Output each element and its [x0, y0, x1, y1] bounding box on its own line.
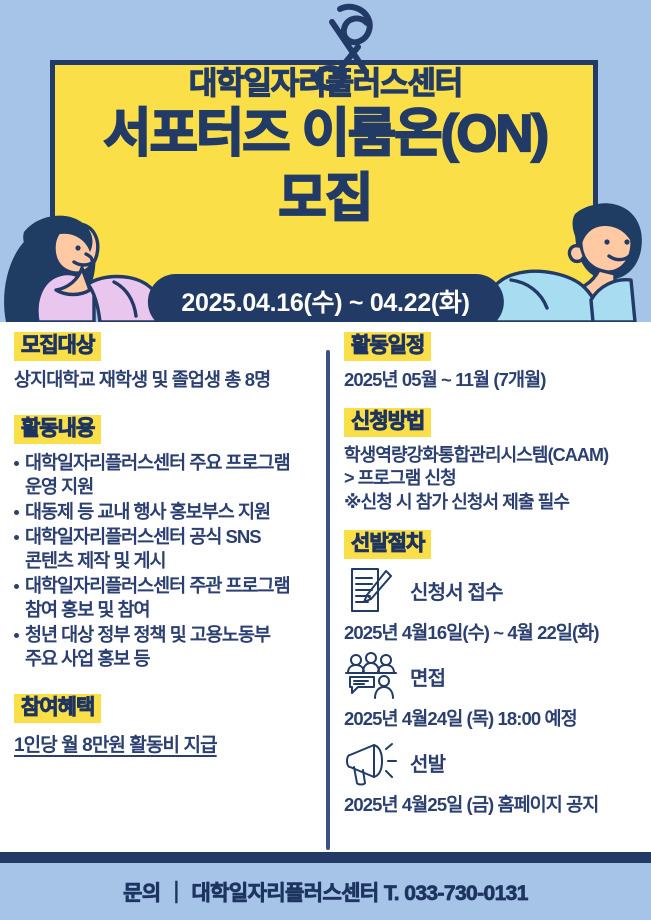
section-heading-how-to-apply: 신청방법: [344, 408, 431, 437]
benefit-text: 1인당 월 8만원 활동비 지급: [14, 730, 318, 757]
section-heading-selection: 선발절차: [344, 530, 431, 559]
step-date: 2025년 4월25일 (금) 홈페이지 공지: [344, 791, 644, 817]
document-pencil-icon: [344, 565, 400, 615]
schedule-text: 2025년 05월 ~ 11월 (7개월): [344, 368, 644, 392]
activity-line-1: 대동제 등 교내 행사 홍보부스 지원: [25, 501, 270, 522]
list-item: 청년 대상 정부 정책 및 고용노동부 주요 사업 홍보 등: [14, 623, 318, 671]
activity-line-1: 대학일자리플러스센터 주요 프로그램: [25, 452, 290, 473]
activity-line-2: 참여 홍보 및 참여: [25, 598, 318, 622]
selection-step-result: 선발: [344, 737, 644, 787]
target-text: 상지대학교 재학생 및 졸업생 총 8명: [14, 368, 318, 392]
column-divider: [326, 350, 330, 850]
title-line-1: 대학일자리플러스센터: [0, 68, 651, 99]
date-range-badge: 2025.04.16(수) ~ 04.22(화): [147, 274, 503, 322]
left-column: 모집대상 상지대학교 재학생 및 졸업생 총 8명 활동내용 대학일자리플러스센…: [14, 332, 318, 757]
step-label: 신청서 접수: [410, 576, 503, 605]
section-heading-benefit: 참여혜택: [14, 694, 101, 723]
hero-section: 대학일자리플러스센터 서포터즈 이룸온(ON) 모집 2025.04.16(수)…: [0, 0, 651, 322]
spacer: [344, 361, 644, 368]
footer-accent-strip: [0, 852, 651, 863]
activity-line-2: 주요 사업 홍보 등: [25, 647, 318, 671]
activity-line-1: 대학일자리플러스센터 주관 프로그램: [25, 575, 290, 596]
activity-line-1: 대학일자리플러스센터 공식 SNS: [25, 526, 261, 547]
activity-line-1: 청년 대상 정부 정책 및 고용노동부: [25, 624, 270, 645]
apply-line-2: > 프로그램 신청: [344, 467, 644, 491]
list-item: 대동제 등 교내 행사 홍보부스 지원: [14, 500, 318, 524]
activity-line-2: 콘텐츠 제작 및 게시: [25, 549, 318, 573]
spacer: [14, 444, 318, 451]
title-line-3: 모집: [0, 173, 651, 225]
list-item: 대학일자리플러스센터 주요 프로그램 운영 지원: [14, 451, 318, 499]
spacer: [14, 361, 318, 368]
selection-step-interview: 면접: [344, 651, 644, 701]
interview-people-icon: [344, 651, 400, 701]
spacer: [344, 393, 644, 408]
title-line-2: 서포터즈 이룸온(ON): [0, 108, 651, 160]
footer-bar: 문의 ｜ 대학일자리플러스센터 T. 033-730-0131: [0, 863, 651, 920]
spacer: [344, 437, 644, 444]
step-label: 선발: [410, 748, 445, 777]
selection-step-application: 신청서 접수: [344, 565, 644, 615]
footer-contact-text: 문의 ｜ 대학일자리플러스센터 T. 033-730-0131: [123, 877, 528, 907]
activity-line-2: 운영 지원: [25, 475, 318, 499]
spacer: [344, 515, 644, 530]
list-item: 대학일자리플러스센터 공식 SNS 콘텐츠 제작 및 게시: [14, 525, 318, 573]
step-label: 면접: [410, 662, 445, 691]
apply-line-3: ※신청 시 참가 신청서 제출 필수: [344, 491, 644, 515]
right-column: 활동일정 2025년 05월 ~ 11월 (7개월) 신청방법 학생역량강화통합…: [344, 332, 644, 817]
spacer: [14, 723, 318, 730]
megaphone-icon: [344, 737, 400, 787]
activities-list: 대학일자리플러스센터 주요 프로그램 운영 지원 대동제 등 교내 행사 홍보부…: [14, 451, 318, 671]
poster-root: 대학일자리플러스센터 서포터즈 이룸온(ON) 모집 2025.04.16(수)…: [0, 0, 651, 920]
section-heading-schedule: 활동일정: [344, 332, 431, 361]
poster-titles: 대학일자리플러스센터 서포터즈 이룸온(ON) 모집: [0, 68, 651, 225]
list-item: 대학일자리플러스센터 주관 프로그램 참여 홍보 및 참여: [14, 574, 318, 622]
step-date: 2025년 4월24일 (목) 18:00 예정: [344, 705, 644, 731]
section-heading-activities: 활동내용: [14, 415, 101, 444]
section-heading-target: 모집대상: [14, 332, 101, 361]
spacer: [14, 672, 318, 694]
content-section: 모집대상 상지대학교 재학생 및 졸업생 총 8명 활동내용 대학일자리플러스센…: [0, 322, 651, 852]
spacer: [14, 393, 318, 415]
step-date: 2025년 4월16일(수) ~ 4월 22일(화): [344, 619, 644, 645]
apply-line-1: 학생역량강화통합관리시스템(CAAM): [344, 444, 644, 468]
